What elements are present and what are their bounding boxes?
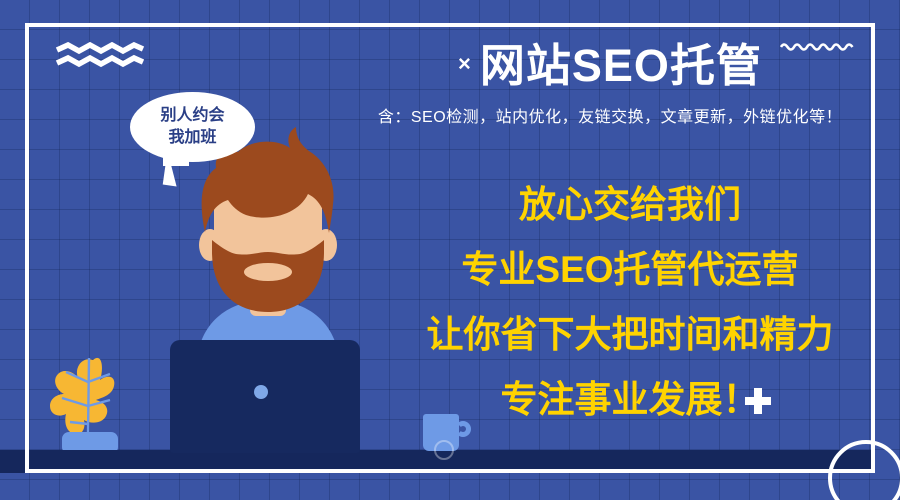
mouth-shape: [244, 263, 292, 281]
x-mark-icon: ×: [458, 51, 472, 76]
seo-hosting-poster: 别人约会 我加班 ×网站SEO托管 含：SEO检测，站内优化，友链交换，文章更新…: [0, 0, 900, 500]
page-subtitle: 含：SEO检测，站内优化，友链交换，文章更新，外链优化等！: [330, 103, 890, 127]
title-block: ×网站SEO托管 含：SEO检测，站内优化，友链交换，文章更新，外链优化等！: [330, 42, 890, 127]
plant-leaves: [50, 358, 114, 435]
desk-ring-mark: [434, 440, 454, 460]
laptop-logo-dot: [254, 385, 268, 399]
slogan-line-4: 专注事业发展！: [400, 381, 860, 418]
speech-bubble-line-2: 我加班: [168, 127, 216, 149]
laptop-icon: [170, 340, 360, 453]
page-title: ×网站SEO托管: [330, 42, 890, 89]
speech-bubble-line-1: 别人约会: [160, 105, 224, 127]
coffee-mug-handle: [455, 421, 471, 437]
slogan-line-2: 专业SEO托管代运营: [400, 251, 860, 288]
speech-bubble: 别人约会 我加班: [130, 92, 255, 162]
slogan-line-1: 放心交给我们: [400, 186, 860, 223]
slogan-list: 放心交给我们 专业SEO托管代运营 让你省下大把时间和精力 专注事业发展！: [400, 186, 860, 418]
page-title-text: 网站SEO托管: [480, 40, 762, 91]
wave-lines-icon: [55, 42, 145, 73]
slogan-line-3: 让你省下大把时间和精力: [400, 316, 860, 353]
